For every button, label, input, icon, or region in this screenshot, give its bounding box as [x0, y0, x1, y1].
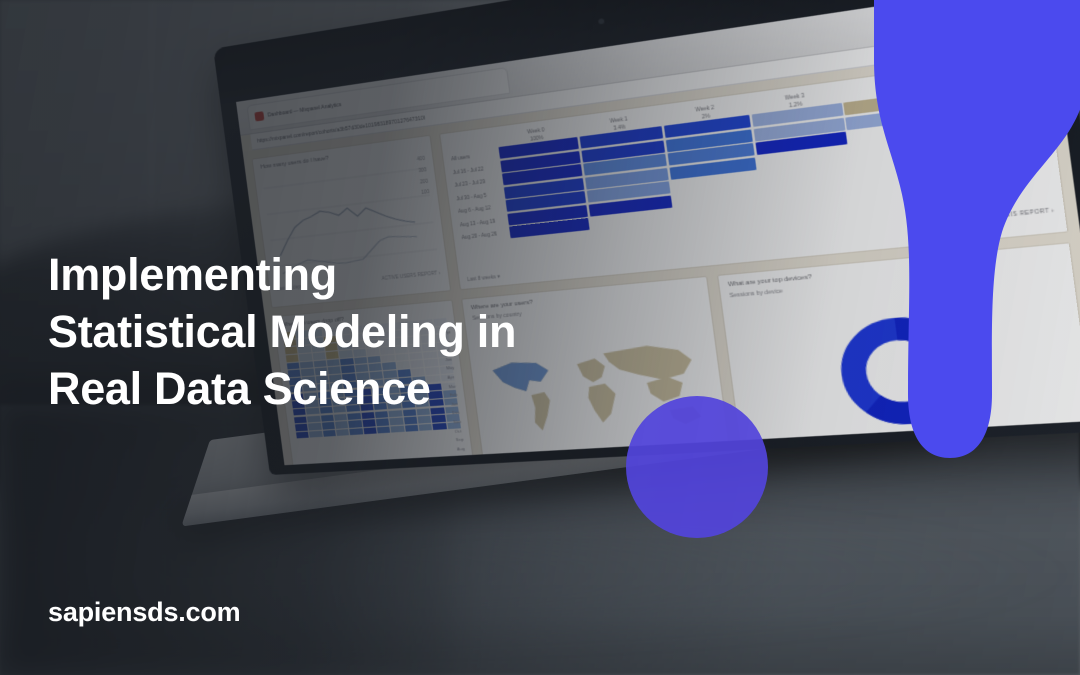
page-title: Implementing Statistical Modeling in Rea…: [48, 246, 658, 417]
headline-line-3: Real Data Science: [48, 360, 658, 417]
site-url: sapiensds.com: [48, 597, 240, 628]
headline-line-1: Implementing: [48, 246, 658, 303]
headline-line-2: Statistical Modeling in: [48, 303, 658, 360]
